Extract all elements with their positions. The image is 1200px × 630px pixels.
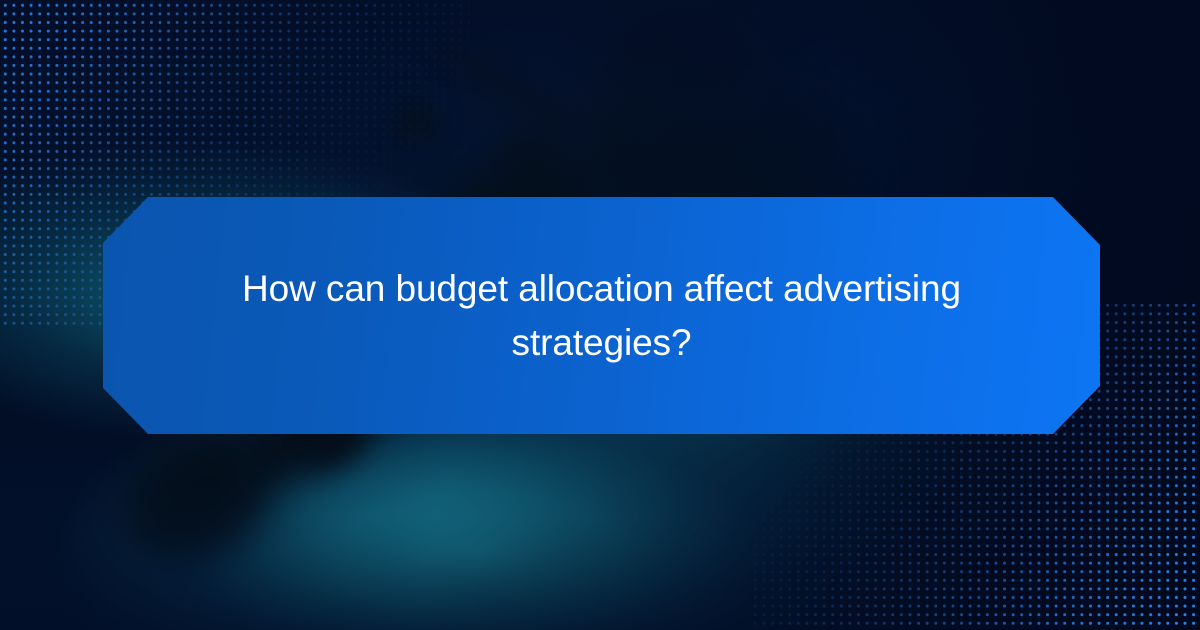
headline-text: How can budget allocation affect adverti… bbox=[207, 262, 997, 370]
headline-banner: How can budget allocation affect adverti… bbox=[103, 197, 1100, 434]
social-card-canvas: How can budget allocation affect adverti… bbox=[0, 0, 1200, 630]
